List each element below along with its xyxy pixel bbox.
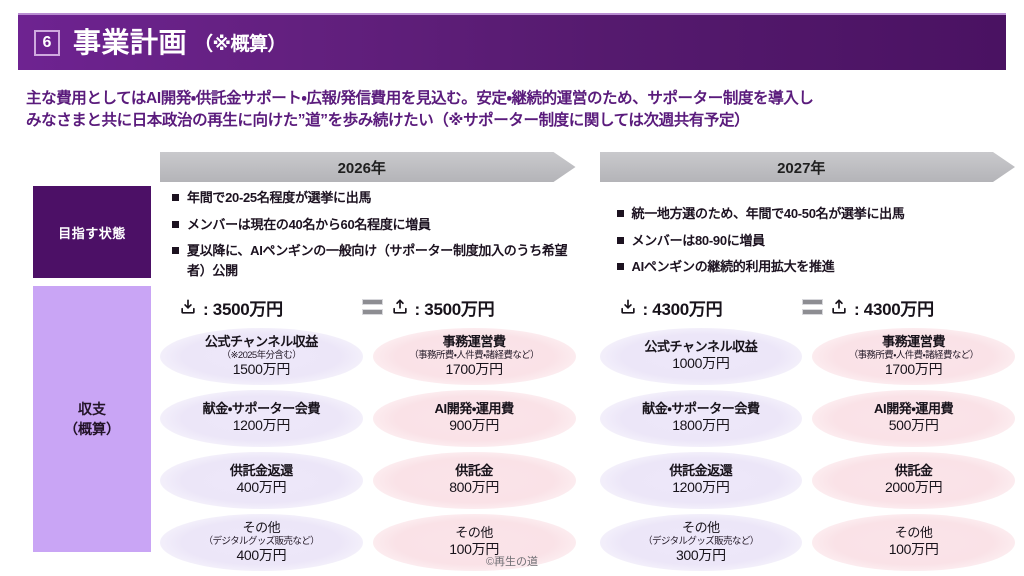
income-card-list-2026: 公式チャンネル収益 （※2025年分含む） 1500万円 献金・サポーター会費 … xyxy=(160,328,363,576)
goals-row: 年間で20-25名程度が選挙に出馬 メンバーは現在の40名から60名程度に増員 … xyxy=(160,188,1015,287)
income-card-title: その他 xyxy=(682,521,720,536)
income-card-title: 供託金返還 xyxy=(230,464,293,479)
expense-card-title: 供託金 xyxy=(895,464,933,479)
income-card-title: 供託金返還 xyxy=(669,464,732,479)
expense-card-amount: 2000万円 xyxy=(885,479,942,497)
income-card-amount: 1000万円 xyxy=(672,355,729,373)
income-card: 公式チャンネル収益 1000万円 xyxy=(600,328,803,385)
totals-row-2027: : 4300万円 : 4300万円 xyxy=(600,288,1016,326)
expense-card-title: 事務運営費 xyxy=(882,335,945,350)
goal-item-text: 夏以降に、AIペンギンの一般向け（サポーター制度加入のうち希望者）公開 xyxy=(187,241,571,280)
income-card-amount: 1200万円 xyxy=(672,479,729,497)
expense-card-note: （事務所費・人件費・諸経費など） xyxy=(849,350,979,361)
expense-card-amount: 800万円 xyxy=(449,479,499,497)
expense-card-amount: 1700万円 xyxy=(885,361,942,379)
budget-row: : 3500万円 : 3500万円 公式チャンネル収益 （※2025年分含む） … xyxy=(160,288,1015,576)
expense-card-title: AI開発・運用費 xyxy=(435,402,514,417)
square-bullet-icon xyxy=(617,237,624,244)
expense-card-list-2026: 事務運営費 （事務所費・人件費・諸経費など） 1700万円 AI開発・運用費 9… xyxy=(373,328,576,576)
year-banner-row: 2026年 2027年 xyxy=(160,152,1015,182)
expense-card: AI開発・運用費 500万円 xyxy=(812,390,1015,447)
income-card-amount: 1500万円 xyxy=(233,361,290,379)
square-bullet-icon xyxy=(172,221,179,228)
expense-card-title: AI開発・運用費 xyxy=(874,402,953,417)
income-card-note: （デジタルグッズ販売など） xyxy=(643,536,759,547)
slide-header-bar: 6 事業計画 （※概算） xyxy=(18,13,1006,70)
income-card-note: （※2025年分含む） xyxy=(222,350,302,361)
expense-card-title: 供託金 xyxy=(455,464,493,479)
year-banner-label: 2026年 xyxy=(338,157,386,178)
copyright-footer: ©再生の道 xyxy=(0,553,1024,569)
income-card-list-2027: 公式チャンネル収益 1000万円 献金・サポーター会費 1800万円 供託金返還… xyxy=(600,328,803,576)
year-banner-2027: 2027年 xyxy=(600,152,1016,182)
lead-line-2: みなさまと共に日本政治の再生に向けた”道”を歩み続けたい（※サポーター制度に関し… xyxy=(26,110,1008,132)
income-card-amount: 1200万円 xyxy=(233,417,290,435)
income-card: 公式チャンネル収益 （※2025年分含む） 1500万円 xyxy=(160,328,363,385)
equals-icon xyxy=(802,299,823,315)
sidebar-row-header-budget: 収支 （概算） xyxy=(33,286,151,552)
page-title: 事業計画 xyxy=(73,29,187,57)
expense-total-value: : 3500万円 xyxy=(415,295,495,320)
upload-icon xyxy=(829,297,849,317)
income-card-note: （デジタルグッズ販売など） xyxy=(204,536,320,547)
download-icon xyxy=(178,297,198,317)
income-card-title: その他 xyxy=(242,521,280,536)
sidebar-label-budget-line2: （概算） xyxy=(64,421,120,437)
goal-item: 夏以降に、AIペンギンの一般向け（サポーター制度加入のうち希望者）公開 xyxy=(172,241,571,280)
square-bullet-icon xyxy=(617,210,624,217)
goal-item-text: メンバーは現在の40名から60名程度に増員 xyxy=(187,215,431,235)
budget-column-2027: : 4300万円 : 4300万円 公式チャンネル収益 1000万円 献金・サポ… xyxy=(600,288,1016,576)
expense-card-list-2027: 事務運営費 （事務所費・人件費・諸経費など） 1700万円 AI開発・運用費 5… xyxy=(812,328,1015,576)
income-card-amount: 1800万円 xyxy=(672,417,729,435)
income-total-group: : 4300万円 xyxy=(618,295,796,320)
goal-item: AIペンギンの継続的利用拡大を推進 xyxy=(617,257,1016,277)
goal-item: メンバーは80-90に増員 xyxy=(617,231,1016,251)
income-card-title: 公式チャンネル収益 xyxy=(644,340,757,355)
income-total-group: : 3500万円 xyxy=(178,295,356,320)
expense-card: 事務運営費 （事務所費・人件費・諸経費など） 1700万円 xyxy=(373,328,576,385)
totals-row-2026: : 3500万円 : 3500万円 xyxy=(160,288,576,326)
budget-cards-2027: 公式チャンネル収益 1000万円 献金・サポーター会費 1800万円 供託金返還… xyxy=(600,328,1016,576)
expense-card-amount: 900万円 xyxy=(449,417,499,435)
income-card: 供託金返還 1200万円 xyxy=(600,452,803,509)
goal-item-text: 年間で20-25名程度が選挙に出馬 xyxy=(187,188,371,208)
year-banner-2026: 2026年 xyxy=(160,152,576,182)
goal-item-text: 統一地方選のため、年間で40-50名が選挙に出馬 xyxy=(632,204,905,224)
income-card: 供託金返還 400万円 xyxy=(160,452,363,509)
square-bullet-icon xyxy=(617,263,624,270)
budget-column-2026: : 3500万円 : 3500万円 公式チャンネル収益 （※2025年分含む） … xyxy=(160,288,576,576)
goal-item-text: AIペンギンの継続的利用拡大を推進 xyxy=(632,257,835,277)
sidebar-label-budget: 収支 （概算） xyxy=(64,399,120,440)
income-card-amount: 400万円 xyxy=(236,479,286,497)
expense-card: 供託金 2000万円 xyxy=(812,452,1015,509)
download-icon xyxy=(618,297,638,317)
lead-paragraph: 主な費用としてはAI開発・供託金サポート・広報/発信費用を見込む。安定・継続的運… xyxy=(26,88,1008,133)
sidebar-row-header-goal: 目指す状態 xyxy=(33,186,151,278)
expense-card-title: その他 xyxy=(455,526,493,541)
expense-card-note: （事務所費・人件費・諸経費など） xyxy=(409,350,539,361)
budget-cards-2026: 公式チャンネル収益 （※2025年分含む） 1500万円 献金・サポーター会費 … xyxy=(160,328,576,576)
goal-item: メンバーは現在の40名から60名程度に増員 xyxy=(172,215,571,235)
expense-card: 事務運営費 （事務所費・人件費・諸経費など） 1700万円 xyxy=(812,328,1015,385)
expense-total-group: : 3500万円 xyxy=(390,295,568,320)
income-total-value: : 4300万円 xyxy=(643,295,723,320)
income-card: 献金・サポーター会費 1200万円 xyxy=(160,390,363,447)
sidebar-label-budget-line1: 収支 xyxy=(78,401,106,417)
equals-icon xyxy=(362,299,383,315)
goals-column-2027: 統一地方選のため、年間で40-50名が選挙に出馬 メンバーは80-90に増員 A… xyxy=(595,188,1016,287)
expense-card: AI開発・運用費 900万円 xyxy=(373,390,576,447)
year-banner-label: 2027年 xyxy=(777,157,825,178)
goal-item: 年間で20-25名程度が選挙に出馬 xyxy=(172,188,571,208)
goals-column-2026: 年間で20-25名程度が選挙に出馬 メンバーは現在の40名から60名程度に増員 … xyxy=(160,188,571,287)
expense-card-amount: 1700万円 xyxy=(445,361,502,379)
page-title-subtitle: （※概算） xyxy=(194,29,286,56)
goal-item: 統一地方選のため、年間で40-50名が選挙に出馬 xyxy=(617,204,1016,224)
income-card: 献金・サポーター会費 1800万円 xyxy=(600,390,803,447)
income-card-title: 献金・サポーター会費 xyxy=(203,402,320,417)
goal-item-text: メンバーは80-90に増員 xyxy=(632,231,765,251)
square-bullet-icon xyxy=(172,247,179,254)
section-number-badge: 6 xyxy=(34,30,60,56)
income-total-value: : 3500万円 xyxy=(203,295,283,320)
expense-card-title: その他 xyxy=(895,526,933,541)
expense-total-value: : 4300万円 xyxy=(854,295,934,320)
square-bullet-icon xyxy=(172,194,179,201)
expense-total-group: : 4300万円 xyxy=(829,295,1007,320)
sidebar-label-goal: 目指す状態 xyxy=(58,223,126,242)
upload-icon xyxy=(390,297,410,317)
income-card-title: 献金・サポーター会費 xyxy=(642,402,759,417)
expense-card-title: 事務運営費 xyxy=(443,335,506,350)
income-card-title: 公式チャンネル収益 xyxy=(205,335,318,350)
expense-card: 供託金 800万円 xyxy=(373,452,576,509)
expense-card-amount: 500万円 xyxy=(889,417,939,435)
lead-line-1: 主な費用としてはAI開発・供託金サポート・広報/発信費用を見込む。安定・継続的運… xyxy=(26,88,1008,110)
